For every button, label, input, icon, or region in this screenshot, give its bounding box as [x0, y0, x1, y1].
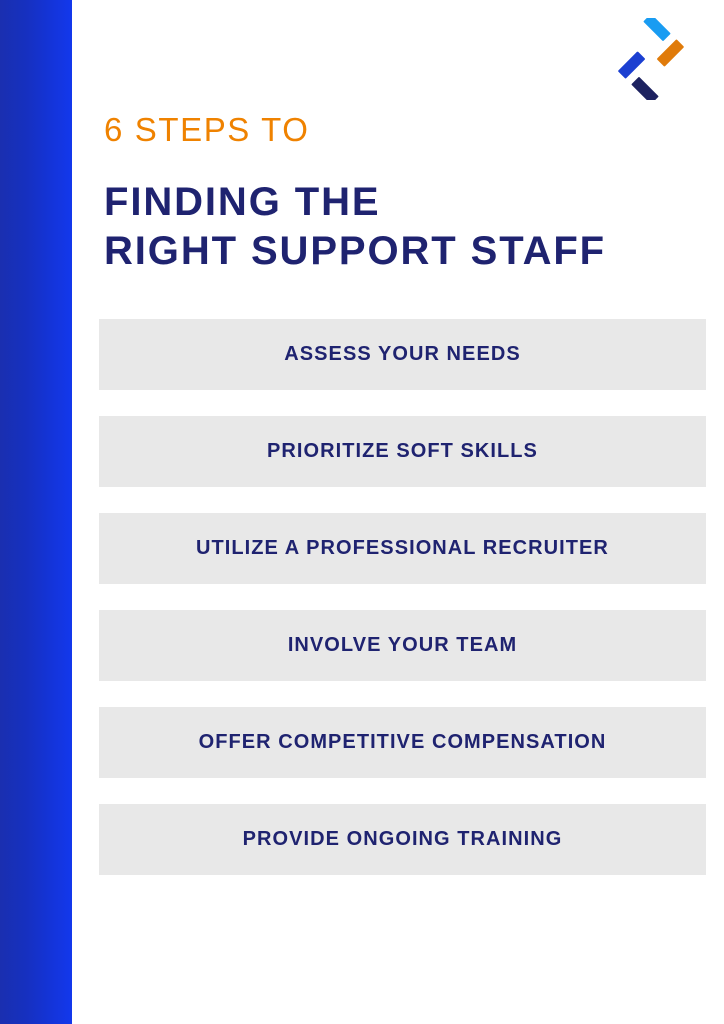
poster-canvas: 6 STEPS TO FINDING THE RIGHT SUPPORT STA…	[0, 0, 724, 1024]
logo-orange-bar	[657, 39, 685, 67]
logo-navy-bar	[631, 77, 659, 100]
step-label-1: ASSESS YOUR NEEDS	[284, 343, 520, 366]
step-row-1: ASSESS YOUR NEEDS	[99, 319, 706, 390]
left-accent-bar	[0, 0, 72, 1024]
page-title: FINDING THE RIGHT SUPPORT STAFF	[104, 178, 606, 276]
step-label-4: INVOLVE YOUR TEAM	[288, 634, 517, 657]
logo-light-blue-bar	[643, 18, 671, 41]
eyebrow-heading: 6 STEPS TO	[104, 108, 310, 152]
step-row-6: PROVIDE ONGOING TRAINING	[99, 804, 706, 875]
step-label-6: PROVIDE ONGOING TRAINING	[243, 828, 563, 851]
step-label-3: UTILIZE A PROFESSIONAL RECRUITER	[196, 537, 609, 560]
step-row-4: INVOLVE YOUR TEAM	[99, 610, 706, 681]
step-label-5: OFFER COMPETITIVE COMPENSATION	[199, 731, 607, 754]
diamond-pinwheel-logo	[610, 18, 692, 100]
step-label-2: PRIORITIZE SOFT SKILLS	[267, 440, 538, 463]
step-row-5: OFFER COMPETITIVE COMPENSATION	[99, 707, 706, 778]
steps-list: ASSESS YOUR NEEDS PRIORITIZE SOFT SKILLS…	[99, 319, 706, 901]
logo-blue-bar	[618, 51, 646, 79]
page-title-line-2: RIGHT SUPPORT STAFF	[104, 227, 606, 276]
page-title-line-1: FINDING THE	[104, 178, 606, 227]
step-row-3: UTILIZE A PROFESSIONAL RECRUITER	[99, 513, 706, 584]
step-row-2: PRIORITIZE SOFT SKILLS	[99, 416, 706, 487]
